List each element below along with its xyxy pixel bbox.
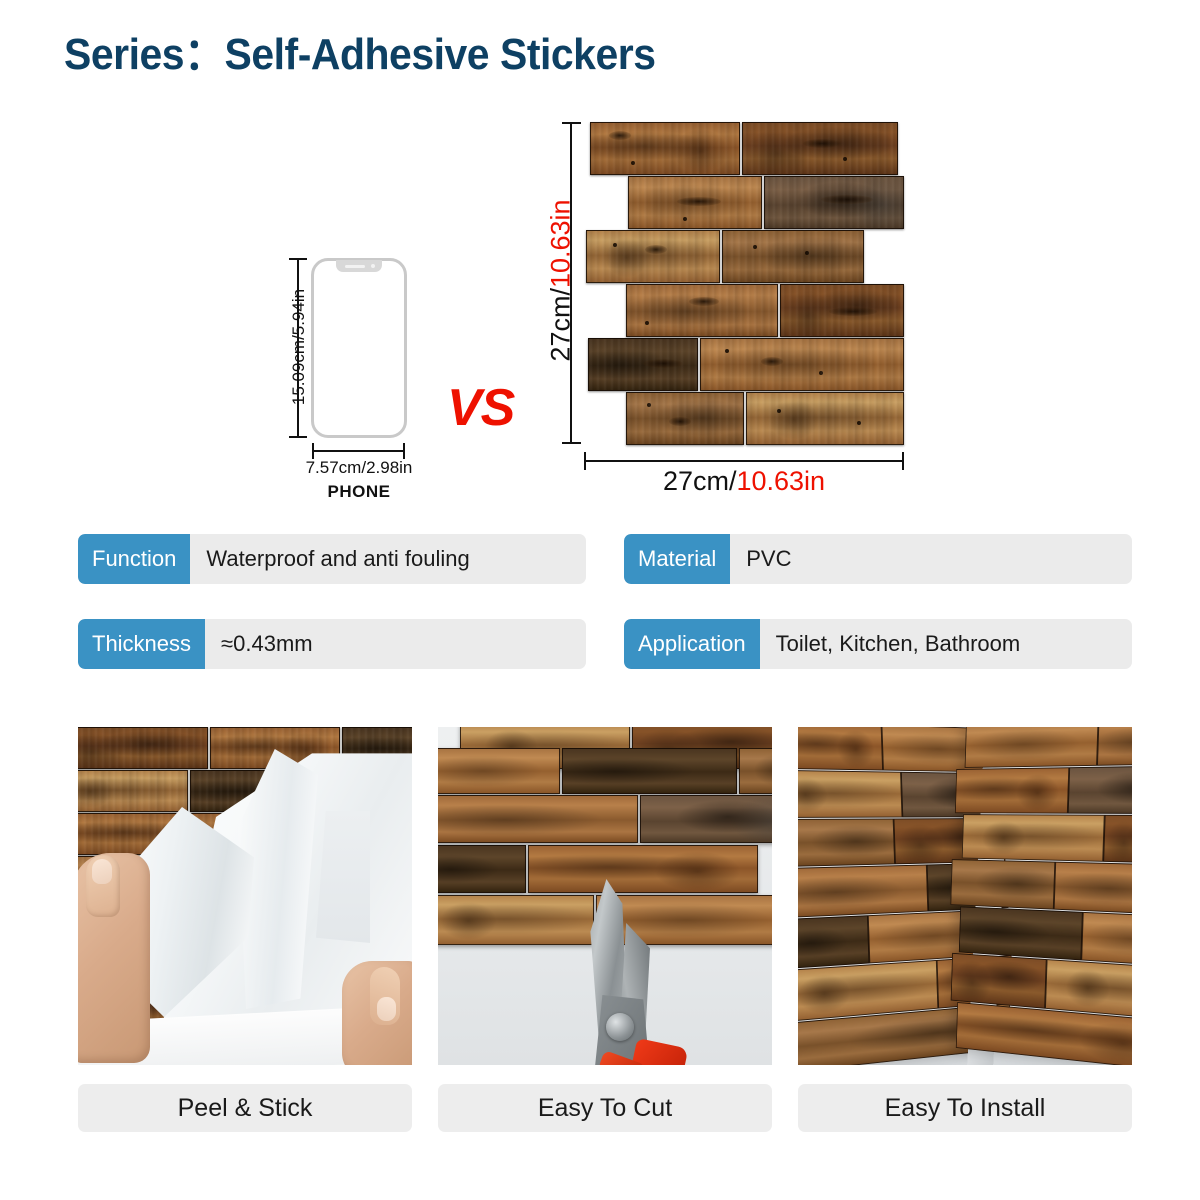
- fingernail-left: [92, 859, 112, 884]
- spec-key: Application: [624, 619, 760, 669]
- phone-width-dimension-line: [313, 450, 405, 452]
- panel-height-metric: 27cm/: [546, 288, 576, 362]
- feature-photo-peel-stick: [78, 727, 412, 1065]
- plank-row: [584, 230, 904, 283]
- spec-value: Waterproof and anti fouling: [190, 534, 485, 584]
- panel-height-label: 27cm/10.63in: [546, 121, 577, 441]
- phone-height-cap-top: [289, 258, 307, 260]
- phone-width-label: 7.57cm/2.98in: [261, 458, 457, 478]
- wood-plank: [780, 284, 904, 337]
- shear-pivot-bolt: [606, 1013, 634, 1041]
- feature-photo-easy-to-install: [798, 727, 1132, 1065]
- spec-row-function: Function Waterproof and anti fouling: [78, 534, 586, 584]
- size-comparison-section: 15.09cm/5.94in 7.57cm/2.98in PHONE VS: [0, 100, 1200, 500]
- phone-width-cap-right: [403, 443, 405, 459]
- spec-key: Function: [78, 534, 190, 584]
- wood-plank: [628, 176, 762, 229]
- spec-value: PVC: [730, 534, 807, 584]
- wood-plank: [626, 392, 744, 445]
- spec-key: Material: [624, 534, 730, 584]
- feature-card-peel-stick: Peel & Stick: [78, 727, 412, 1132]
- plank-row: [584, 338, 904, 391]
- phone-notch-icon: [336, 260, 382, 272]
- phone-name-label: PHONE: [261, 482, 457, 502]
- spec-row-material: Material PVC: [624, 534, 1132, 584]
- wood-plank: [746, 392, 904, 445]
- wood-plank: [742, 122, 898, 175]
- plank-row: [584, 122, 904, 175]
- phone-width-cap-left: [312, 443, 314, 459]
- wood-plank: [722, 230, 864, 283]
- plank-row: [584, 284, 904, 337]
- wood-panel-right: [956, 727, 1132, 1065]
- wood-plank: [590, 122, 740, 175]
- fingernail-right: [377, 997, 396, 1021]
- panel-width-metric: 27cm/: [663, 466, 737, 496]
- wood-plank: [586, 230, 720, 283]
- feature-photo-easy-to-cut: [438, 727, 772, 1065]
- phone-reference-diagram: 15.09cm/5.94in 7.57cm/2.98in PHONE: [283, 258, 433, 458]
- vs-label: VS: [447, 378, 514, 438]
- panel-height-imperial: 10.63in: [546, 199, 576, 288]
- spec-value: Toilet, Kitchen, Bathroom: [760, 619, 1037, 669]
- spec-key: Thickness: [78, 619, 205, 669]
- panel-height-cap-bottom: [562, 442, 581, 444]
- shear-handle-right: [632, 1038, 689, 1065]
- wood-plank: [588, 338, 698, 391]
- feature-card-easy-to-install: Easy To Install: [798, 727, 1132, 1132]
- panel-width-label: 27cm/10.63in: [584, 466, 904, 497]
- phone-camera-icon: [371, 264, 375, 268]
- feature-gallery: Peel & Stick: [78, 727, 1132, 1127]
- feature-caption: Easy To Cut: [438, 1084, 772, 1132]
- spec-row-thickness: Thickness ≈0.43mm: [78, 619, 586, 669]
- specification-table: Function Waterproof and anti fouling Mat…: [78, 534, 1132, 679]
- plank-row: [584, 392, 904, 445]
- feature-caption: Easy To Install: [798, 1084, 1132, 1132]
- feature-card-easy-to-cut: Easy To Cut: [438, 727, 772, 1132]
- page-title: Series：Self-Adhesive Stickers: [64, 18, 656, 82]
- spec-row-application: Application Toilet, Kitchen, Bathroom: [624, 619, 1132, 669]
- wood-plank: [626, 284, 778, 337]
- spec-value: ≈0.43mm: [205, 619, 329, 669]
- feature-caption: Peel & Stick: [78, 1084, 412, 1132]
- panel-width-imperial: 10.63in: [736, 466, 825, 496]
- phone-outline: [311, 258, 407, 438]
- wood-panel-product-image: 27cm/10.63in 27cm/10.63in: [584, 122, 904, 444]
- phone-height-cap-bottom: [289, 436, 307, 438]
- wood-plank: [700, 338, 904, 391]
- wood-plank: [764, 176, 904, 229]
- panel-width-dimension-line: [584, 460, 904, 462]
- plank-row: [584, 176, 904, 229]
- phone-height-label: 15.09cm/5.94in: [289, 262, 309, 432]
- phone-speaker-icon: [345, 265, 365, 268]
